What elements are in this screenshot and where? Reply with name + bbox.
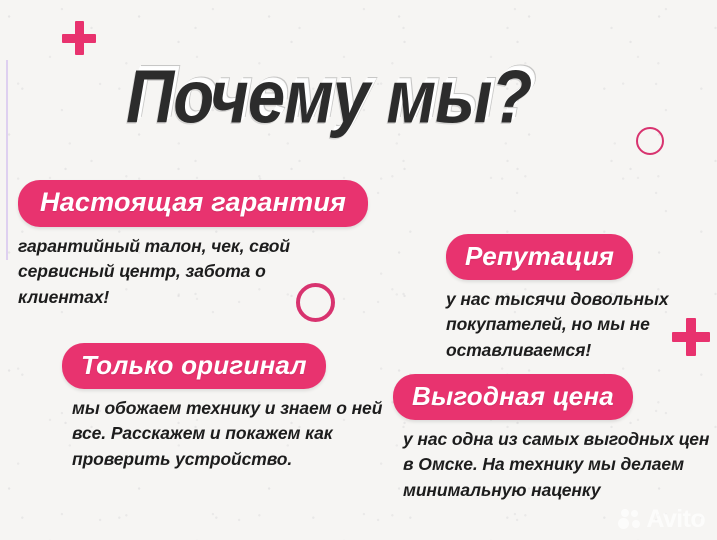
avito-dots-icon [618,509,642,530]
avito-wordmark: Avito [646,507,705,532]
feature-description-price: у нас одна из самых выгодных цен в Омске… [403,427,713,503]
avito-watermark: Avito [618,507,705,532]
feature-title-reputation: Репутация [446,234,633,280]
feature-title-price: Выгодная цена [393,374,633,420]
feature-block-reputation: Репутация у нас тысячи довольных покупат… [446,234,711,363]
feature-description-reputation: у нас тысячи довольных покупателей, но м… [446,287,696,363]
feature-description-guarantee: гарантийный талон, чек, свой сервисный ц… [18,234,338,310]
feature-description-original: мы обожаем технику и знаем о ней все. Ра… [72,396,388,472]
page-title: Почему мы? [126,60,531,135]
edge-accent-line [6,60,8,260]
feature-block-price: Выгодная цена у нас одна из самых выгодн… [393,374,713,503]
feature-block-original: Только оригинал мы обожаем технику и зна… [62,343,392,472]
feature-title-original: Только оригинал [62,343,326,389]
poster-canvas: Почему мы? Настоящая гарантия гарантийны… [0,0,717,540]
feature-title-guarantee: Настоящая гарантия [18,180,368,227]
plus-icon-top-left [62,21,96,55]
circle-outline-icon-top-right [636,127,664,155]
feature-block-guarantee: Настоящая гарантия гарантийный талон, че… [18,180,418,310]
